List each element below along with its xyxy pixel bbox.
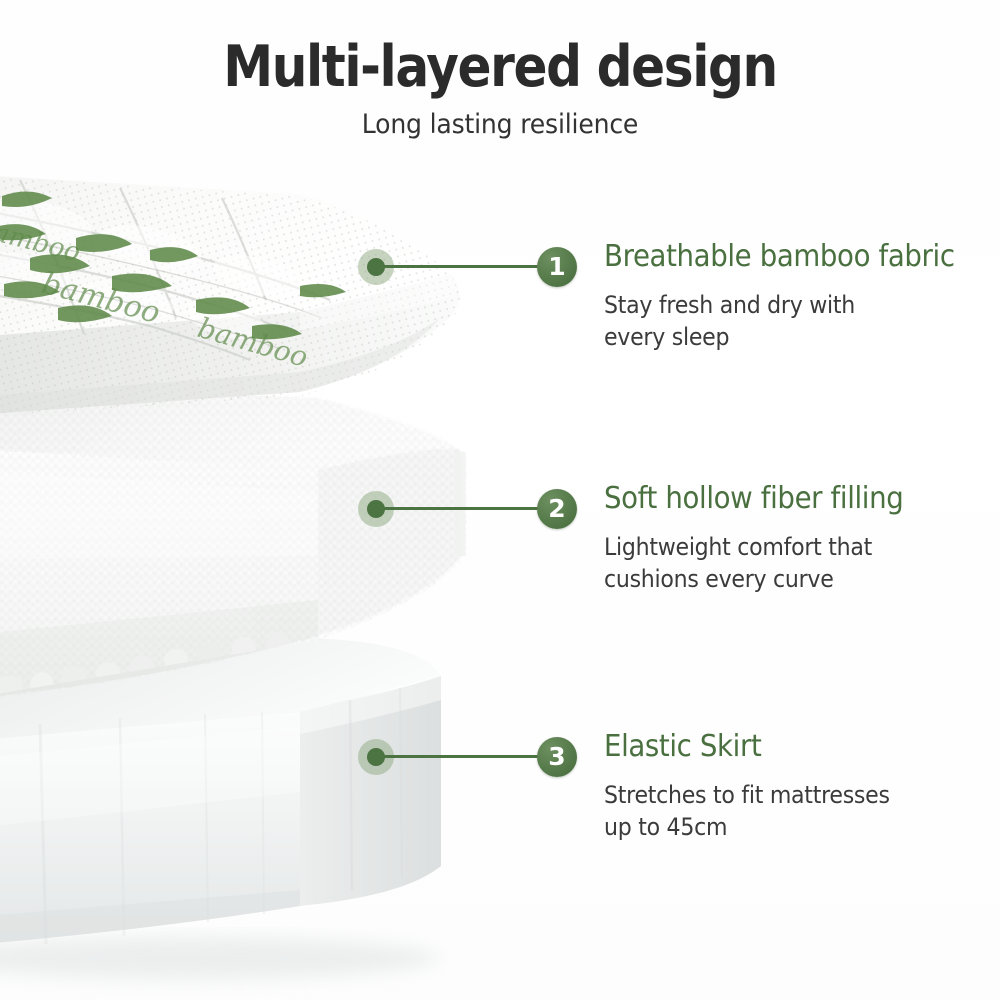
callout-text-3: Elastic Skirt Stretches to fit mattresse… [604,730,1000,844]
callout-body-1-line-2: every sleep [604,321,968,354]
callout-body-2-line-1: Lightweight comfort that [604,531,968,564]
step-badge-1: 1 [537,247,577,287]
callout-heading-1: Breathable bamboo fabric [604,240,968,275]
callout-body-3-line-2: up to 45cm [604,811,968,844]
callout-heading-2: Soft hollow fiber filling [604,482,968,517]
callout-list: 1 Breathable bamboo fabric Stay fresh an… [0,0,1000,1000]
callout-body-3-line-1: Stretches to fit mattresses [604,779,968,812]
leader-line-1 [376,265,556,268]
callout-body-2: Lightweight comfort that cushions every … [604,517,968,596]
step-badge-3: 3 [537,737,577,777]
leader-line-3 [376,755,556,758]
callout-heading-3: Elastic Skirt [604,730,968,765]
callout-body-1-line-1: Stay fresh and dry with [604,289,968,322]
callout-body-2-line-2: cushions every curve [604,563,968,596]
leader-line-2 [376,507,556,510]
page-subtitle: Long lasting resilience [35,97,965,140]
header: Multi-layered design Long lasting resili… [0,0,1000,140]
callout-text-1: Breathable bamboo fabric Stay fresh and … [604,240,1000,354]
callout-text-2: Soft hollow fiber filling Lightweight co… [604,482,1000,596]
infographic-canvas: bamboo bamboo bamboo Multi-layered desig… [0,0,1000,1000]
callout-body-3: Stretches to fit mattresses up to 45cm [604,765,968,844]
page-title: Multi-layered design [60,0,940,97]
callout-body-1: Stay fresh and dry with every sleep [604,275,968,354]
step-badge-2: 2 [537,489,577,529]
